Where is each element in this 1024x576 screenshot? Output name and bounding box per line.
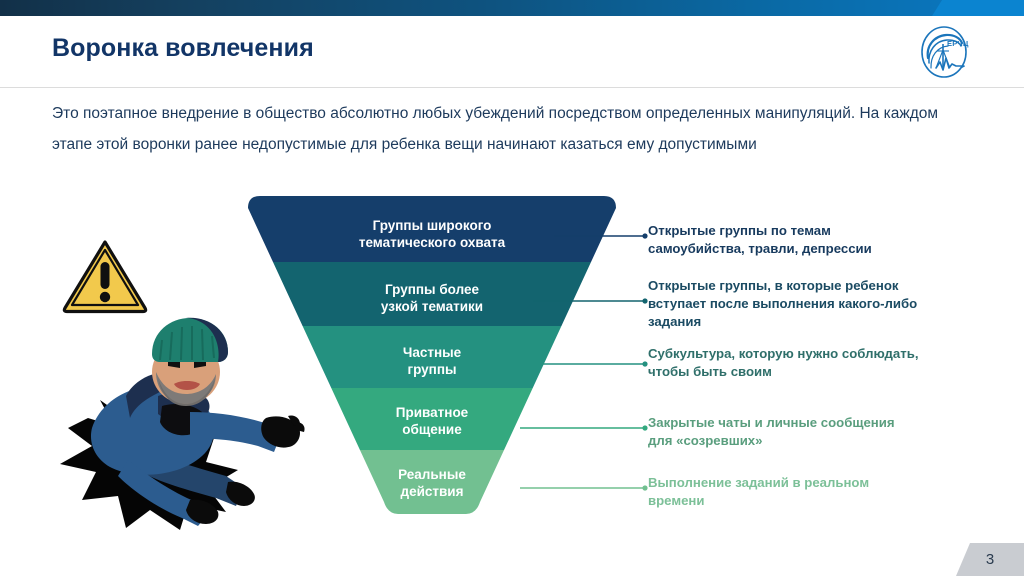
- logo-icon: ЕРЧЦ: [916, 24, 972, 80]
- top-bar-accent: [932, 0, 1024, 16]
- funnel-connectors: [520, 196, 650, 514]
- intro-paragraph: Это поэтапное внедрение в общество абсол…: [52, 98, 942, 160]
- page-number: 3: [956, 543, 1024, 576]
- connector-line-3: [520, 425, 648, 430]
- connector-line-0: [554, 233, 648, 238]
- annotation-0: Открытые группы по темам самоубийства, т…: [648, 222, 978, 258]
- top-gradient-bar: [0, 0, 1024, 16]
- header-divider: [0, 87, 1024, 88]
- connector-line-1: [533, 298, 648, 303]
- annotation-4: Выполнение заданий в реальном времени: [648, 474, 978, 510]
- annotation-3: Закрытые чаты и личные сообщения для «со…: [648, 414, 978, 450]
- annotation-1: Открытые группы, в которые ребенок вступ…: [648, 277, 978, 331]
- page-title: Воронка вовлечения: [52, 34, 314, 63]
- connector-line-4: [520, 485, 648, 490]
- connector-line-2: [520, 361, 648, 366]
- slide-canvas: Воронка вовлечения ЕРЧЦ Это поэтапное вн…: [0, 0, 1024, 576]
- svg-text:ЕРЧЦ: ЕРЧЦ: [947, 39, 969, 48]
- annotation-2: Субкультура, которую нужно соблюдать, чт…: [648, 345, 978, 381]
